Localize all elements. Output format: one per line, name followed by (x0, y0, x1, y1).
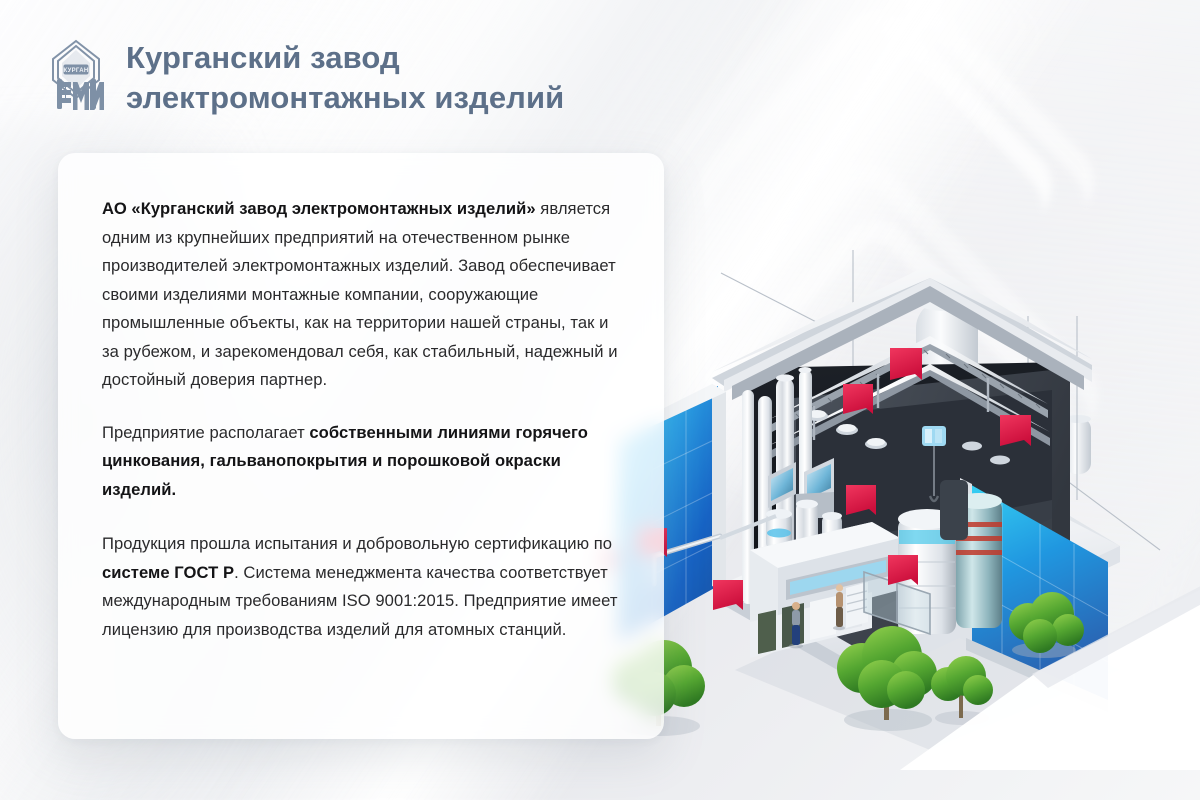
about-company-card: АО «Курганский завод электромонтажных из… (58, 153, 664, 739)
certification-bold: системе ГОСТ Р (102, 563, 234, 582)
company-logo-icon: КУРГАН (48, 38, 104, 116)
marker-pin (890, 348, 922, 380)
company-name-bold: АО «Курганский завод электромонтажных из… (102, 199, 536, 218)
marker-pin (713, 580, 743, 610)
svg-text:КУРГАН: КУРГАН (63, 68, 88, 74)
page-header: КУРГАН Курганский завод электромонтажных… (48, 36, 564, 117)
marker-pin (846, 485, 876, 515)
page-title: Курганский завод электромонтажных издели… (126, 36, 564, 117)
paragraph-capabilities: Предприятие располагает собственными лин… (102, 419, 618, 505)
paragraph-intro: АО «Курганский завод электромонтажных из… (102, 195, 618, 395)
certification-prefix: Продукция прошла испытания и добровольну… (102, 534, 612, 553)
marker-pin (1000, 415, 1031, 446)
marker-pin (843, 384, 873, 414)
paragraph-certification: Продукция прошла испытания и добровольну… (102, 530, 618, 644)
marker-pin (888, 555, 918, 585)
capabilities-prefix: Предприятие располагает (102, 423, 309, 442)
poster-canvas: КУРГАН Курганский завод электромонтажных… (0, 0, 1200, 800)
paragraph-intro-rest: является одним из крупнейших предприятий… (102, 199, 618, 389)
isometric-factory-illustration (600, 250, 1200, 770)
